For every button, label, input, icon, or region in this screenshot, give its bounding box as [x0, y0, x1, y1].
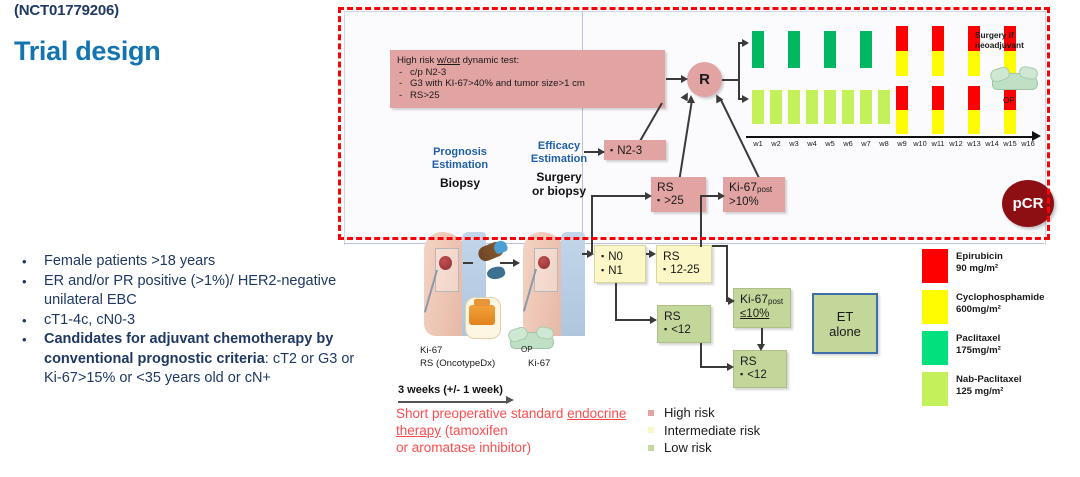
transition-line: [500, 262, 514, 264]
node-item: N0: [601, 250, 639, 264]
drug-legend-label: Cyclophosphamide600mg/m²: [956, 290, 1045, 315]
node-value: ≤10%: [740, 308, 784, 321]
drug-legend: Epirubicin90 mg/m²Cyclophosphamide600mg/…: [922, 249, 1072, 413]
drug-name: Cyclophosphamide: [956, 292, 1045, 304]
bullet-glyph: •: [22, 311, 44, 331]
eligibility-criteria-list: • Female patients >18 years • ER and/or …: [22, 252, 372, 389]
pill-bottle-icon: [465, 297, 499, 337]
arrowhead: [649, 250, 656, 258]
drug-legend-item: Epirubicin90 mg/m²: [922, 249, 1072, 283]
drug-dose: 90 mg/m²: [956, 263, 1003, 275]
drug-dose: 175mg/m²: [956, 345, 1001, 357]
risk-legend-label: High risk: [664, 404, 715, 422]
node-title-main: Ki-67: [740, 292, 768, 306]
et-alone-box[interactable]: ET alone: [812, 293, 878, 354]
duration-label: 3 weeks (+/- 1 week): [398, 384, 503, 396]
list-item: • ER and/or PR positive (>1%)/ HER2-nega…: [22, 272, 372, 311]
drug-dose: 600mg/m²: [956, 304, 1045, 316]
node-title: RS: [663, 250, 705, 263]
risk-color-swatch: [648, 427, 654, 433]
nct-identifier: (NCT01779206): [14, 2, 119, 19]
page-title: Trial design: [14, 36, 160, 67]
bullet-glyph: •: [22, 330, 44, 350]
bullet-glyph: •: [22, 252, 44, 272]
drug-name: Nab-Paclitaxel: [956, 374, 1022, 386]
drug-legend-label: Nab-Paclitaxel125 mg/m²: [956, 372, 1022, 397]
bullet-glyph: •: [22, 272, 44, 292]
node-title: Ki-67post: [740, 293, 784, 308]
highlight-frame: [338, 7, 1050, 240]
assay-label-ki67-left: Ki-67: [420, 345, 442, 357]
transition-arrowhead: [513, 259, 520, 267]
risk-color-swatch: [648, 445, 654, 451]
risk-legend-label: Intermediate risk: [664, 422, 760, 440]
connector-rslt12a-to-rslt12b: [700, 366, 730, 368]
biopsy-illustration-right: [523, 232, 585, 336]
assay-label-rs-oncotypedx: RS (OncotypeDx): [420, 358, 495, 370]
drug-legend-label: Paclitaxel175mg/m²: [956, 331, 1001, 356]
node-rs-lt12-b[interactable]: RS <12: [733, 350, 787, 388]
risk-legend: High riskIntermediate riskLow risk: [648, 404, 760, 457]
drug-color-swatch: [922, 290, 948, 324]
node-ki67post-le10[interactable]: Ki-67post ≤10%: [733, 288, 791, 328]
drug-name: Paclitaxel: [956, 333, 1001, 345]
duration-arrowhead: [506, 396, 514, 404]
risk-legend-item: Low risk: [648, 439, 760, 457]
assay-label-ki67-right: Ki-67: [528, 358, 550, 370]
risk-legend-item: High risk: [648, 404, 760, 422]
connector-rslt12a-down: [700, 343, 702, 368]
drug-legend-item: Nab-Paclitaxel125 mg/m²: [922, 372, 1072, 406]
node-rs-lt12-a[interactable]: RS <12: [657, 305, 711, 343]
arrowhead: [728, 297, 735, 305]
node-title: RS: [740, 355, 780, 368]
criteria-text: cT1-4c, cN0-3: [44, 311, 372, 331]
risk-legend-label: Low risk: [664, 439, 712, 457]
op-label-middle: OP: [521, 344, 533, 356]
endocrine-line1c: (tamoxifen: [441, 423, 508, 438]
connector-rs1225-down: [726, 245, 728, 301]
endocrine-line2: or aromatase inhibitor): [396, 440, 531, 455]
endocrine-line1a: Short preoperative standard: [396, 406, 567, 421]
arrowhead: [757, 344, 765, 351]
pill-icon: [486, 265, 506, 281]
drug-dose: 125 mg/m²: [956, 386, 1022, 398]
drug-name: Epirubicin: [956, 251, 1003, 263]
node-item: N1: [601, 264, 639, 278]
connector-n0n1-to-rslt12: [615, 319, 653, 321]
pill-capsule-icon: [478, 240, 508, 264]
list-item: • cT1-4c, cN0-3: [22, 311, 372, 331]
node-n0-n1[interactable]: N0 N1: [594, 245, 646, 283]
et-alone-line2: alone: [829, 324, 861, 339]
drug-color-swatch: [922, 331, 948, 365]
node-item: <12: [664, 323, 704, 337]
endocrine-therapy-note: Short preoperative standard endocrine th…: [396, 405, 631, 456]
connector-rs1225-right: [712, 245, 728, 247]
drug-color-swatch: [922, 372, 948, 406]
arrowhead: [650, 316, 657, 324]
criteria-text: ER and/or PR positive (>1%)/ HER2-negati…: [44, 272, 372, 311]
drug-legend-item: Cyclophosphamide600mg/m²: [922, 290, 1072, 324]
transition-line: [463, 262, 473, 264]
arrowhead: [727, 363, 734, 371]
duration-arrow-line: [398, 401, 508, 403]
criteria-text-emphasized: Candidates for adjuvant chemotherapy by …: [44, 330, 372, 389]
drug-color-swatch: [922, 249, 948, 283]
node-item: <12: [740, 368, 780, 382]
node-title: RS: [664, 310, 704, 323]
et-alone-line1: ET: [837, 309, 854, 324]
list-item: • Candidates for adjuvant chemotherapy b…: [22, 330, 372, 389]
connector-n0n1-down: [615, 283, 617, 321]
drug-legend-item: Paclitaxel175mg/m²: [922, 331, 1072, 365]
risk-legend-item: Intermediate risk: [648, 422, 760, 440]
node-item: 12-25: [663, 263, 705, 277]
drug-legend-label: Epirubicin90 mg/m²: [956, 249, 1003, 274]
list-item: • Female patients >18 years: [22, 252, 372, 272]
criteria-text: Female patients >18 years: [44, 252, 372, 272]
node-title-subscript: post: [768, 297, 783, 306]
risk-color-swatch: [648, 410, 654, 416]
node-rs-12-25[interactable]: RS 12-25: [656, 245, 712, 283]
